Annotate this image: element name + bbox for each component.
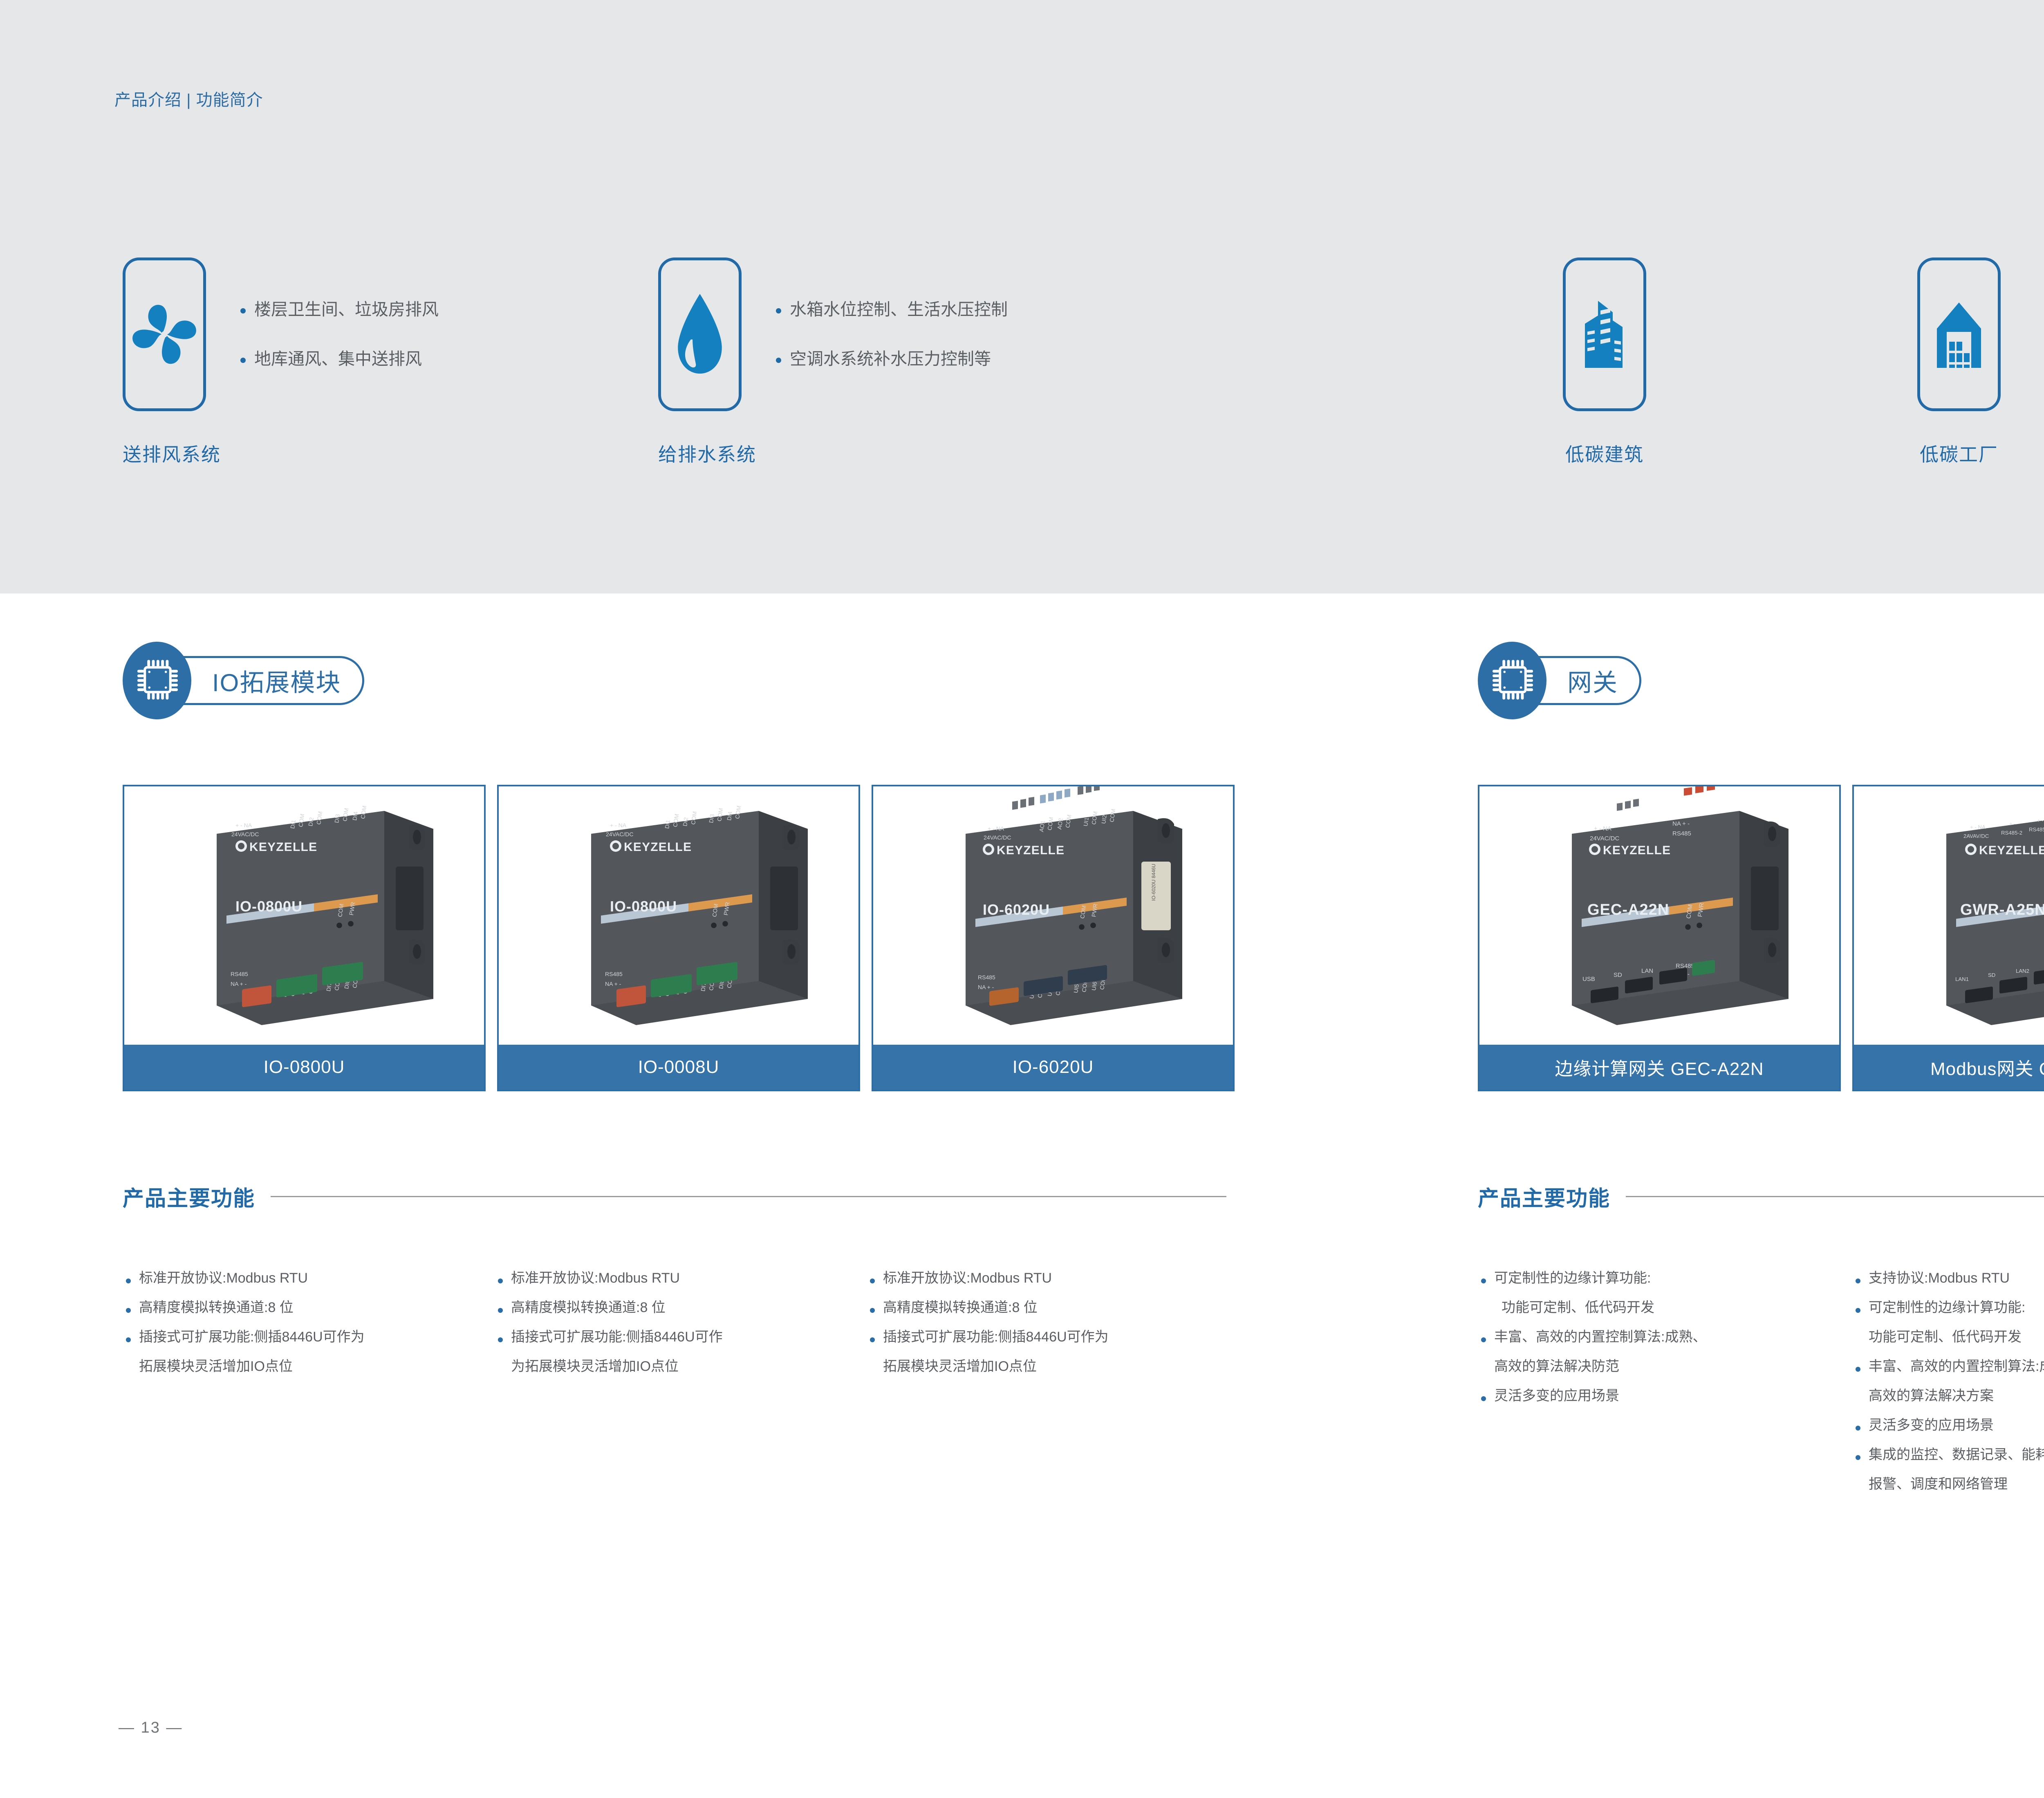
svg-text:RS485: RS485 [231,971,248,977]
list-item: 灵活多变的应用场景 [1478,1389,1852,1403]
svg-text:DI1: DI1 [289,819,297,829]
feature-columns-right: 可定制性的边缘计算功能: 功能可定制、低代码开发 丰富、高效的内置控制算法:成熟… [1478,1271,2044,1507]
list-item: 可定制性的边缘计算功能: 功能可定制、低代码开发 [1478,1271,1852,1314]
svg-text:UI5: UI5 [1072,983,1080,993]
list-item: 插接式可扩展功能:侧插8446U可作为 拓展模块灵活增加IO点位 [867,1330,1239,1373]
section-title-io-module: IO拓展模块 [212,663,341,699]
factory-icon-box [1917,257,2001,411]
svg-text:2AVAV/DC: 2AVAV/DC [1963,833,1989,839]
svg-text:RS485-3: RS485-3 [2029,826,2044,833]
svg-text:GWR-A25N: GWR-A25N [1960,901,2044,918]
tile-low-carbon-factory-label: 低碳工厂 [1917,440,2001,467]
svg-text:24VAC/DC: 24VAC/DC [1590,835,1619,842]
svg-text:RS485: RS485 [1672,830,1691,837]
svg-text:DI4: DI4 [351,811,359,821]
list-item: 丰富、高效的内置控制算法:成熟、 高效的算法解决防范 [1478,1330,1852,1373]
svg-text:RS485: RS485 [978,974,995,981]
product-image-gec-a22n: + - NA 24VAC/DC NA + - RS485 USB SD LAN … [1479,786,1839,1045]
scenario-water-supply: 水箱水位控制、生活水压控制 空调水系统补水压力控制等 给排水系统 [658,257,1008,467]
svg-text:UI6: UI6 [1090,981,1098,991]
list-item: 标准开放协议:Modbus RTU [495,1271,867,1285]
water-drop-icon [671,291,728,378]
features-heading-left: 产品主要功能 [123,1181,1226,1212]
product-card[interactable]: + - NA 24VAC/DC DI1 COM DI2 COM DI3 COM … [123,785,486,1091]
fan-icon-box [123,257,206,411]
svg-text:IO-6020U: IO-6020U [983,901,1050,918]
svg-text:24VAC/DC: 24VAC/DC [231,831,259,837]
svg-text:+ -: + - [2037,817,2044,824]
feature-columns-left: 标准开放协议:Modbus RTU 高精度模拟转换通道:8 位 插接式可扩展功能… [123,1271,1239,1389]
office-building-icon [1577,298,1632,371]
svg-text:KEYZELLE: KEYZELLE [1603,844,1671,857]
svg-text:SD: SD [1988,972,1995,978]
svg-text:GEC-A22N: GEC-A22N [1587,901,1669,918]
list-item: 插接式可扩展功能:侧插8446U可作 为拓展模块灵活增加IO点位 [495,1330,867,1373]
svg-text:DI2: DI2 [307,817,315,826]
features-heading-right: 产品主要功能 [1478,1181,2044,1212]
section-heading-gateway: 网关 [1478,642,1641,719]
section-title-gateway: 网关 [1567,663,1618,699]
svg-text:+ - NA: + - NA [988,825,1004,832]
product-caption: IO-0008U [499,1045,858,1090]
list-item: 集成的监控、数据记录、能耗计量、 报警、调度和网络管理 [1852,1448,2044,1491]
svg-text:USB: USB [1582,976,1595,983]
factory-icon [1930,298,1988,371]
product-card[interactable]: + - NA 24VAC/DC DI1 COM DI2 COM DI3 COM … [497,785,860,1091]
svg-text:+ - NA: + - NA [1594,825,1611,832]
features-heading-left-text: 产品主要功能 [123,1181,255,1212]
product-row-gateways: + - NA 24VAC/DC NA + - RS485 USB SD LAN … [1478,785,2044,1091]
svg-text:KEYZELLE: KEYZELLE [997,844,1065,857]
product-row-io-modules: + - NA 24VAC/DC DI1 COM DI2 COM DI3 COM … [123,785,1235,1091]
svg-text:KEYZELLE: KEYZELLE [249,840,317,854]
svg-text:RS485-2: RS485-2 [2001,830,2022,836]
scenario-water-supply-bullets: 水箱水位控制、生活水压控制 空调水系统补水压力控制等 [772,298,1008,371]
tile-low-carbon-building-label: 低碳建筑 [1563,440,1646,467]
page-number-left: — 13 — [119,1719,183,1737]
svg-text:IO-6020U 8446U: IO-6020U 8446U [1151,864,1156,901]
chip-icon [1491,657,1534,704]
running-header-left: 产品介绍 | 功能简介 [114,87,263,110]
tile-low-carbon-building: 低碳建筑 [1563,257,1646,467]
product-card[interactable]: IO-6020U 8446U + - NA 24VAC/DC AO1 COM [872,785,1235,1091]
product-image-gwr-a25n: + - NA 2AVAV/DC + - RS485-2 + - RS485-3 … [1854,786,2044,1045]
product-caption: Modbus网关 GWR-A25N [1854,1045,2044,1090]
product-image-io-0008u: + - NA 24VAC/DC DI1 COM DI2 COM DI3 COM … [499,786,858,1045]
product-caption: IO-6020U [873,1045,1233,1090]
list-item: 高精度模拟转换通道:8 位 [867,1301,1239,1314]
water-drop-icon-box [658,257,742,411]
svg-text:LAN2: LAN2 [2016,968,2029,974]
svg-text:UI2: UI2 [1100,814,1108,824]
scenario-ventilation: 楼层卫生间、垃圾房排风 地库通风、集中送排风 送排风系统 [123,257,439,467]
scenario-water-supply-title: 给排水系统 [658,440,1008,467]
product-image-io-0800u: + - NA 24VAC/DC DI1 COM DI2 COM DI3 COM … [124,786,484,1045]
list-item: 丰富、高效的内置控制算法:成熟、 高效的算法解决方案 [1852,1359,2044,1403]
list-item: 高精度模拟转换通道:8 位 [495,1301,867,1314]
svg-text:IO-0800U: IO-0800U [610,898,677,915]
svg-text:+ - NA: + - NA [235,822,252,828]
svg-text:KEYZELLE: KEYZELLE [1979,844,2044,857]
svg-text:NA + -: NA + - [605,981,621,987]
svg-text:KEYZELLE: KEYZELLE [624,840,692,854]
features-heading-right-text: 产品主要功能 [1478,1181,1610,1212]
product-image-io-6020u: IO-6020U 8446U + - NA 24VAC/DC AO1 COM [873,786,1233,1045]
svg-text:NA + -: NA + - [231,981,247,987]
svg-text:UI1: UI1 [1082,817,1090,826]
svg-text:DI3: DI3 [708,813,715,823]
product-caption: 边缘计算网关 GEC-A22N [1479,1045,1839,1090]
product-caption: IO-0800U [124,1045,484,1090]
list-item: 标准开放协议:Modbus RTU [123,1271,495,1285]
product-card[interactable]: + - NA 24VAC/DC NA + - RS485 USB SD LAN … [1478,785,1841,1091]
catalog-spread: 产品介绍 | 功能简介 产品介绍 | 功能简介 [0,0,2044,1798]
svg-text:+ -: + - [2009,821,2016,827]
svg-text:24VAC/DC: 24VAC/DC [606,831,633,837]
fan-icon [126,293,203,375]
list-item: 可定制性的边缘计算功能: 功能可定制、低代码开发 [1852,1301,2044,1344]
features-heading-left-rule [271,1196,1226,1197]
list-item: 地库通风、集中送排风 [236,348,439,370]
section-heading-io-module: IO拓展模块 [123,642,364,719]
svg-text:NA + -: NA + - [1672,820,1690,827]
svg-text:NA + -: NA + - [978,984,994,990]
chip-icon [136,657,179,704]
chip-icon-circle [1478,642,1546,719]
office-building-icon-box [1563,257,1646,411]
list-item: 插接式可扩展功能:侧插8446U可作为 拓展模块灵活增加IO点位 [123,1330,495,1373]
svg-text:DI4: DI4 [726,811,733,821]
svg-text:DI1: DI1 [663,819,671,829]
svg-text:24VAC/DC: 24VAC/DC [984,834,1011,841]
list-item: 标准开放协议:Modbus RTU [867,1271,1239,1285]
chip-icon-circle [123,642,191,719]
svg-text:SD: SD [1614,972,1622,978]
product-card[interactable]: + - NA 2AVAV/DC + - RS485-2 + - RS485-3 … [1852,785,2044,1091]
feature-column: 支持协议:Modbus RTU 可定制性的边缘计算功能: 功能可定制、低代码开发… [1852,1271,2044,1507]
svg-text:+ - NA: + - NA [1970,824,1986,830]
svg-text:+ - NA: + - NA [610,822,627,828]
list-item: 楼层卫生间、垃圾房排风 [236,298,439,321]
scenario-ventilation-title: 送排风系统 [123,440,439,467]
svg-text:IO-0800U: IO-0800U [235,898,303,915]
list-item: 灵活多变的应用场景 [1852,1418,2044,1432]
svg-text:LAN: LAN [1641,967,1653,974]
feature-column: 标准开放协议:Modbus RTU 高精度模拟转换通道:8 位 插接式可扩展功能… [867,1271,1239,1389]
svg-text:LAN1: LAN1 [1955,976,1969,982]
feature-column: 可定制性的边缘计算功能: 功能可定制、低代码开发 丰富、高效的内置控制算法:成熟… [1478,1271,1852,1507]
svg-text:RS485: RS485 [605,971,623,977]
features-heading-right-rule [1626,1196,2044,1197]
svg-text:DI2: DI2 [681,817,689,826]
list-item: 水箱水位控制、生活水压控制 [772,298,1008,321]
list-item: 空调水系统补水压力控制等 [772,348,1008,370]
svg-text:DI3: DI3 [333,813,341,823]
feature-column: 标准开放协议:Modbus RTU 高精度模拟转换通道:8 位 插接式可扩展功能… [495,1271,867,1389]
scenario-ventilation-bullets: 楼层卫生间、垃圾房排风 地库通风、集中送排风 [236,298,439,371]
list-item: 高精度模拟转换通道:8 位 [123,1301,495,1314]
tile-low-carbon-factory: 低碳工厂 [1917,257,2001,467]
feature-column: 标准开放协议:Modbus RTU 高精度模拟转换通道:8 位 插接式可扩展功能… [123,1271,495,1389]
list-item: 支持协议:Modbus RTU [1852,1271,2044,1285]
